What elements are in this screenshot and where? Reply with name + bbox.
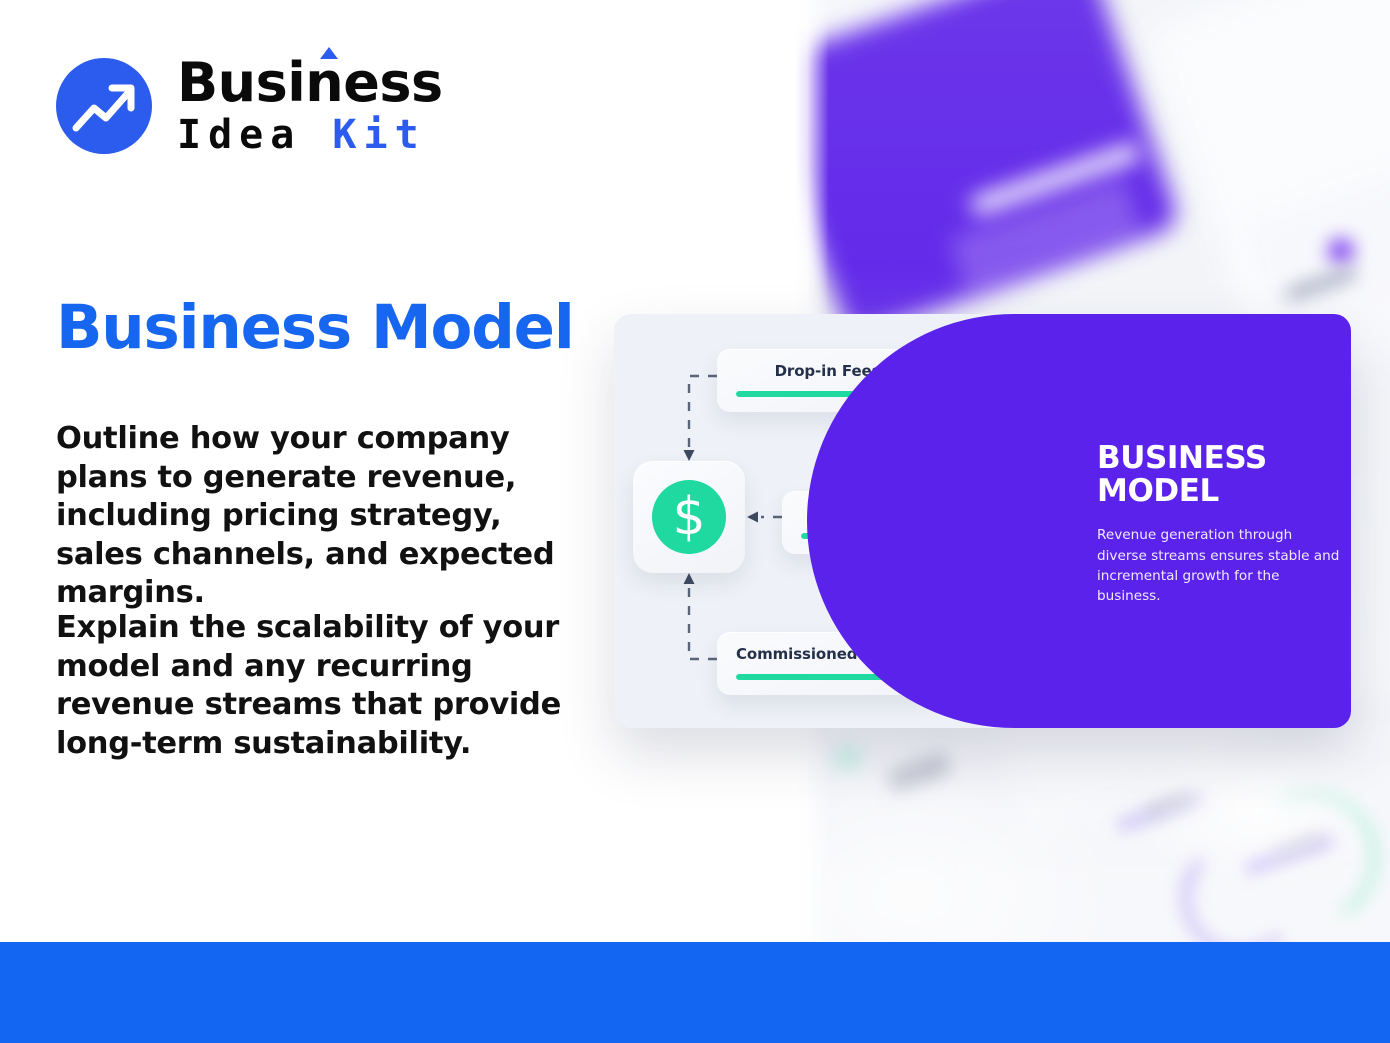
svg-text:$: $	[672, 487, 705, 547]
purple-highlight-panel: BUSINESS MODEL Revenue generation throug…	[1020, 314, 1351, 728]
revenue-hub: $	[633, 461, 745, 573]
brand-name-line2: Idea Kit	[177, 114, 443, 156]
brand-name-line1: Business	[177, 57, 443, 110]
footer-bar	[0, 942, 1390, 1043]
brand-wordmark: Business Idea Kit	[177, 57, 443, 156]
brand-name-text: Business	[177, 51, 443, 114]
body-paragraph-1: Outline how your company plans to genera…	[56, 420, 586, 613]
page-title: Business Model	[56, 296, 574, 360]
purple-panel-title-line1: BUSINESS	[1097, 440, 1267, 476]
purple-panel-description: Revenue generation through diverse strea…	[1097, 525, 1345, 607]
body-paragraph-2: Explain the scalability of your model an…	[56, 609, 586, 763]
purple-panel-title-line2: MODEL	[1097, 473, 1219, 509]
slide-canvas: Business Idea Kit Business Model Outline…	[0, 0, 1390, 1043]
feature-card: $ Drop-in Fees Session Workshops	[614, 314, 1351, 728]
purple-panel-content: BUSINESS MODEL Revenue generation throug…	[1097, 442, 1345, 607]
growth-arrow-chart-icon	[56, 58, 152, 154]
brand-idea-text: Idea	[177, 112, 301, 158]
dollar-sign-icon: $	[652, 480, 726, 554]
purple-panel-title: BUSINESS MODEL	[1097, 442, 1345, 508]
brand-logo[interactable]: Business Idea Kit	[56, 57, 443, 156]
caret-accent-icon	[320, 47, 338, 59]
brand-kit-text: Kit	[332, 112, 425, 158]
